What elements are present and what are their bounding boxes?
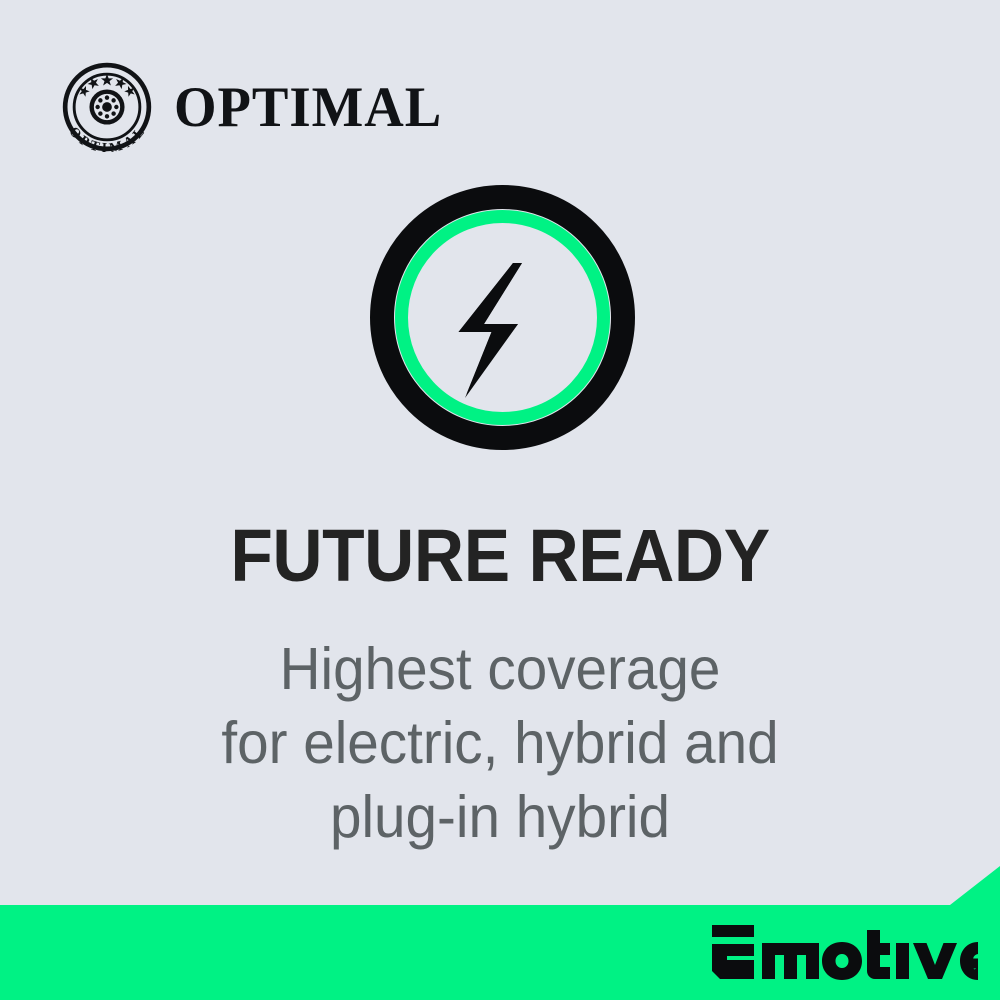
marketing-card: OPTIMAL OPTIMAL: [0, 0, 1000, 1000]
lightning-bolt-in-circle-icon: [370, 182, 635, 453]
footer-banner: [0, 866, 1000, 1000]
subtitle-line-2: for electric, hybrid and: [20, 706, 980, 780]
optimal-bearing-seal-icon: OPTIMAL: [62, 62, 152, 152]
brand-wordmark: OPTIMAL: [174, 79, 442, 136]
emotive-wordmark-logo: [710, 924, 978, 986]
brand-header: OPTIMAL OPTIMAL: [62, 62, 453, 152]
subtitle-line-1: Highest coverage: [20, 632, 980, 706]
subtitle-block: Highest coverage for electric, hybrid an…: [20, 632, 980, 854]
page-title: FUTURE READY: [30, 519, 970, 593]
subtitle-line-3: plug-in hybrid: [20, 780, 980, 854]
